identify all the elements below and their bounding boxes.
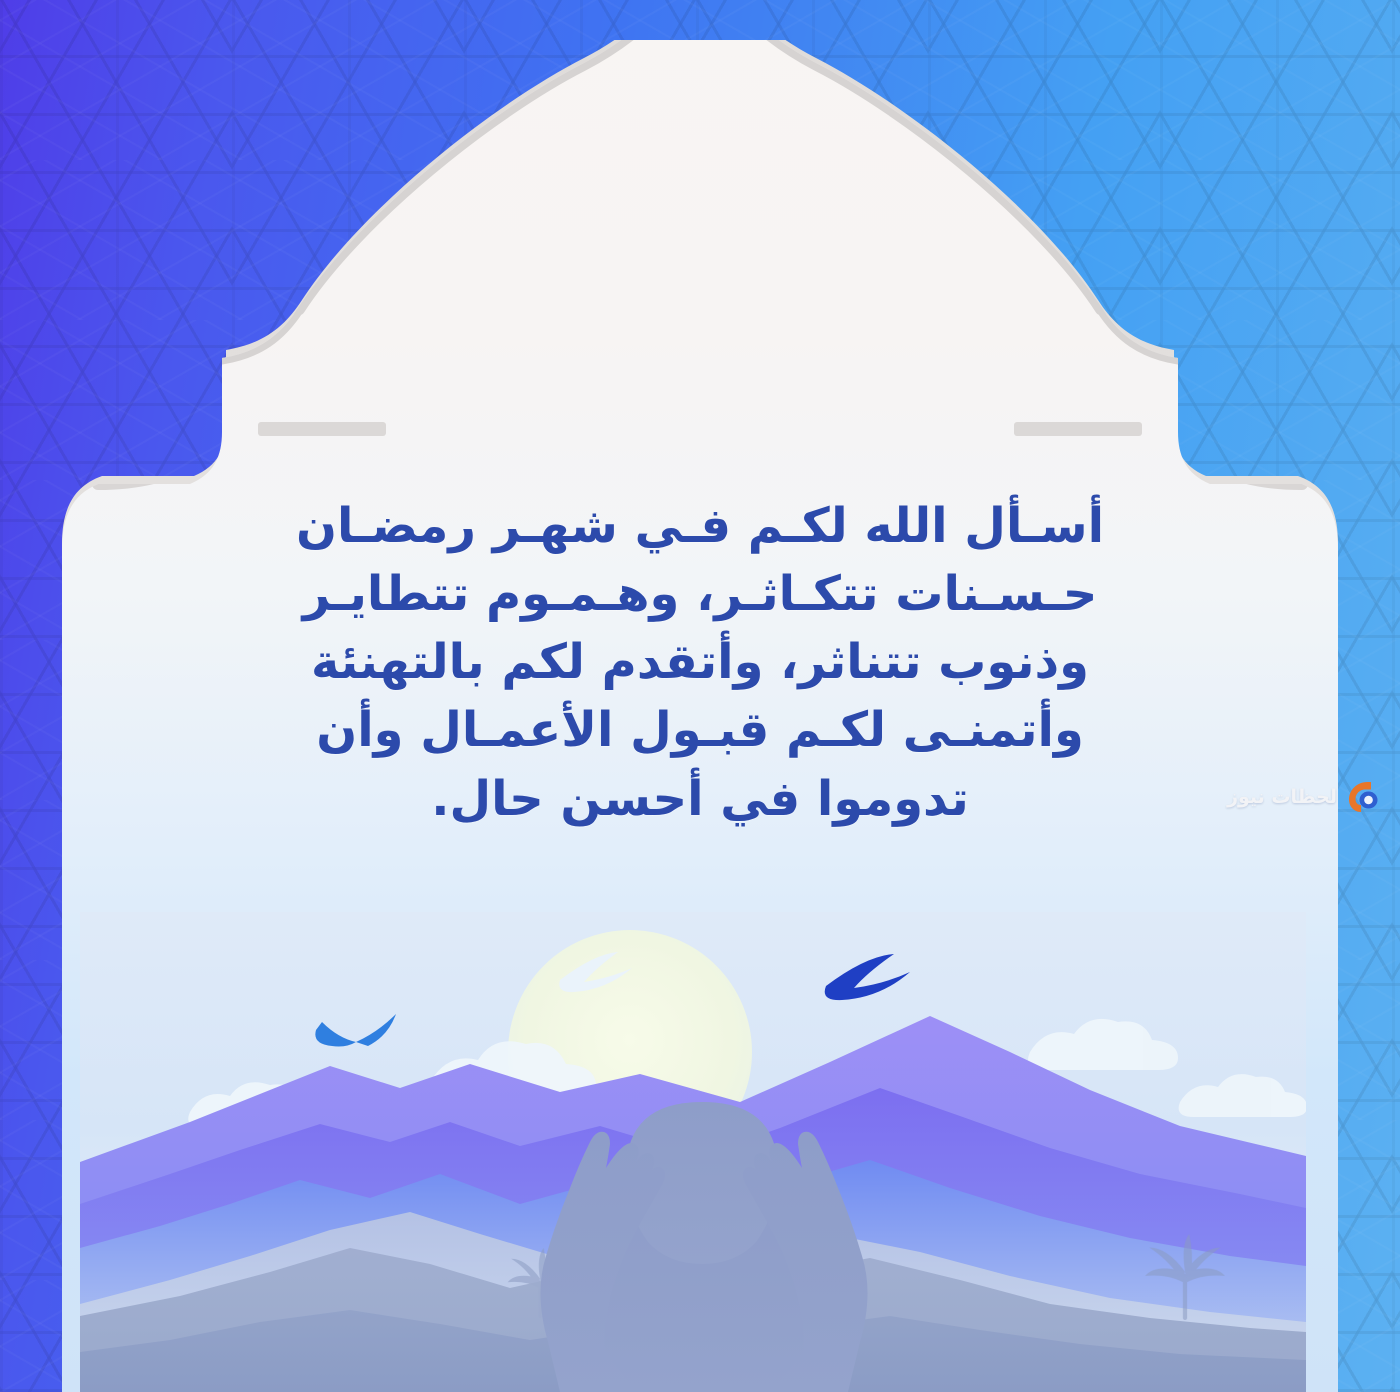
channel-watermark[interactable]: لحظات نيوز (1227, 779, 1380, 815)
landscape-illustration (0, 912, 1400, 1392)
ramadan-greeting-card: أسـأل الله لكـم فـي شهـر رمضـان حـسـنات … (0, 0, 1400, 1392)
lahazat-news-swoosh-icon (1344, 779, 1380, 815)
watermark-label: لحظات نيوز (1227, 786, 1337, 808)
praying-figure-silhouette (540, 1102, 867, 1392)
greeting-message: أسـأل الله لكـم فـي شهـر رمضـان حـسـنات … (210, 492, 1190, 833)
